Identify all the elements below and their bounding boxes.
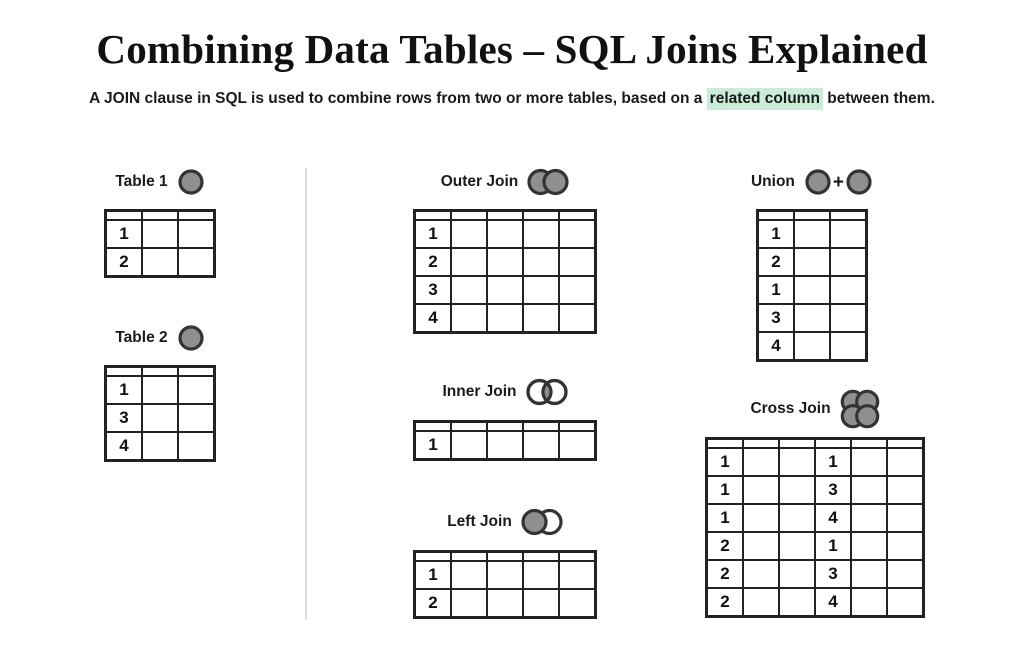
header-cell: [451, 552, 487, 562]
table-header-row: [415, 552, 596, 562]
data-cell: [779, 560, 815, 588]
header-cell: [523, 552, 559, 562]
table-row: 1: [415, 431, 596, 460]
table-inner: 1: [413, 420, 597, 461]
caption-union: Union+: [714, 168, 910, 196]
diagram-block-outer-join: Outer Join1234: [398, 168, 612, 334]
data-cell: [487, 276, 523, 304]
venn-intersection-filled-icon: [526, 378, 568, 406]
table-header-row: [106, 211, 215, 221]
header-cell: [178, 367, 215, 377]
data-cell: [779, 504, 815, 532]
data-cell: [559, 589, 596, 618]
header-cell: [887, 439, 924, 449]
header-cell: [178, 211, 215, 221]
caption-cross: Cross Join: [700, 395, 930, 423]
data-cell: [451, 304, 487, 333]
key-cell: 1: [707, 504, 744, 532]
table-header-row: [415, 422, 596, 432]
header-cell: [815, 439, 851, 449]
data-cell: [559, 220, 596, 248]
data-cell: [743, 532, 779, 560]
header-cell: [451, 211, 487, 221]
key-cell: 3: [758, 304, 795, 332]
table-table2: 134: [104, 365, 216, 462]
table-cross: 111314212324: [705, 437, 925, 618]
header-cell: [451, 422, 487, 432]
data-cell: [743, 476, 779, 504]
caption-left: Left Join: [398, 508, 612, 536]
table-row: 24: [707, 588, 924, 617]
header-cell: [415, 552, 452, 562]
header-cell: [487, 422, 523, 432]
header-cell: [523, 422, 559, 432]
table-wrapper-outer: 1234: [398, 209, 612, 334]
key-cell: 2: [707, 560, 744, 588]
header-cell: [779, 439, 815, 449]
data-cell: [178, 376, 215, 404]
key-cell: 1: [415, 561, 452, 589]
data-cell: [559, 276, 596, 304]
key-cell: 1: [106, 376, 143, 404]
caption-table2: Table 2: [56, 324, 264, 352]
data-cell: [851, 476, 887, 504]
data-cell: [779, 476, 815, 504]
table-row: 4: [415, 304, 596, 333]
data-cell: [142, 376, 178, 404]
data-cell: [887, 476, 924, 504]
header-cell: [830, 211, 867, 221]
table-row: 2: [106, 248, 215, 277]
caption-label-inner: Inner Join: [442, 384, 516, 400]
data-cell: [487, 431, 523, 460]
data-cell: [142, 404, 178, 432]
subtitle-text-before: A JOIN clause in SQL is used to combine …: [89, 90, 707, 107]
subtitle-highlight: related column: [707, 88, 823, 110]
data-cell: [830, 220, 867, 248]
table-row: 3: [758, 304, 867, 332]
data-cell: [887, 532, 924, 560]
table-wrapper-left: 12: [398, 550, 612, 619]
key-cell: 1: [415, 220, 452, 248]
single-circle-icon: [177, 324, 205, 352]
header-cell: [758, 211, 795, 221]
table-wrapper-inner: 1: [398, 420, 612, 461]
data-cell: [559, 304, 596, 333]
data-cell: [887, 560, 924, 588]
data-cell: [851, 448, 887, 476]
caption-table1: Table 1: [56, 168, 264, 196]
table-row: 4: [106, 432, 215, 461]
table-row: 3: [415, 276, 596, 304]
table-left: 12: [413, 550, 597, 619]
data-cell: [779, 532, 815, 560]
table-union: 12134: [756, 209, 868, 362]
data-cell: [523, 561, 559, 589]
data-cell: [794, 332, 830, 361]
plus-symbol: +: [833, 173, 844, 192]
data-cell: [523, 589, 559, 618]
venn-left-filled-icon: [521, 508, 563, 536]
page-title: Combining Data Tables – SQL Joins Explai…: [0, 26, 1024, 73]
data-cell: [830, 304, 867, 332]
data-cell: [487, 220, 523, 248]
data-cell: [559, 248, 596, 276]
caption-label-table1: Table 1: [115, 174, 167, 190]
table-row: 1: [106, 376, 215, 404]
data-cell: [743, 504, 779, 532]
table-header-row: [707, 439, 924, 449]
diagram-block-table1: Table 112: [56, 168, 264, 278]
single-circle-icon: [177, 168, 205, 196]
header-cell: [142, 367, 178, 377]
header-cell: [559, 422, 596, 432]
data-cell: [523, 220, 559, 248]
data-cell: [887, 504, 924, 532]
header-cell: [487, 552, 523, 562]
key-cell: 1: [815, 448, 851, 476]
data-cell: [451, 220, 487, 248]
header-cell: [559, 211, 596, 221]
data-cell: [451, 561, 487, 589]
key-cell: 3: [815, 476, 851, 504]
table-row: 13: [707, 476, 924, 504]
data-cell: [743, 448, 779, 476]
table-wrapper-table1: 12: [56, 209, 264, 278]
table-row: 2: [415, 589, 596, 618]
key-cell: 3: [106, 404, 143, 432]
header-cell: [415, 422, 452, 432]
key-cell: 2: [707, 532, 744, 560]
header-cell: [851, 439, 887, 449]
table-wrapper-cross: 111314212324: [700, 437, 930, 618]
data-cell: [559, 431, 596, 460]
header-cell: [523, 211, 559, 221]
quatrefoil-icon: [840, 389, 880, 429]
caption-outer: Outer Join: [398, 168, 612, 196]
table-header-row: [758, 211, 867, 221]
data-cell: [794, 276, 830, 304]
data-cell: [178, 248, 215, 277]
key-cell: 4: [815, 588, 851, 617]
table-row: 1: [415, 220, 596, 248]
diagram-block-inner-join: Inner Join1: [398, 378, 612, 461]
data-cell: [743, 560, 779, 588]
header-cell: [559, 552, 596, 562]
key-cell: 4: [106, 432, 143, 461]
key-cell: 2: [707, 588, 744, 617]
header-cell: [794, 211, 830, 221]
header: Combining Data Tables – SQL Joins Explai…: [0, 0, 1024, 109]
subtitle-text-after: between them.: [823, 90, 935, 107]
data-cell: [451, 431, 487, 460]
data-cell: [830, 332, 867, 361]
caption-label-union: Union: [751, 174, 795, 190]
table-row: 21: [707, 532, 924, 560]
vertical-divider: [305, 168, 307, 620]
data-cell: [794, 220, 830, 248]
table-row: 1: [758, 276, 867, 304]
diagram-block-table2: Table 2134: [56, 324, 264, 462]
data-cell: [851, 588, 887, 617]
table-row: 2: [758, 248, 867, 276]
key-cell: 2: [415, 248, 452, 276]
diagram-block-left-join: Left Join12: [398, 508, 612, 619]
table-outer: 1234: [413, 209, 597, 334]
data-cell: [178, 404, 215, 432]
data-cell: [178, 432, 215, 461]
key-cell: 1: [415, 431, 452, 460]
data-cell: [523, 276, 559, 304]
data-cell: [487, 561, 523, 589]
header-cell: [743, 439, 779, 449]
key-cell: 2: [415, 589, 452, 618]
key-cell: 1: [815, 532, 851, 560]
diagram-block-union: Union+12134: [714, 168, 910, 362]
data-cell: [487, 304, 523, 333]
data-cell: [142, 248, 178, 277]
data-cell: [487, 589, 523, 618]
table-header-row: [106, 367, 215, 377]
key-cell: 1: [707, 448, 744, 476]
table-row: 2: [415, 248, 596, 276]
data-cell: [523, 248, 559, 276]
table-header-row: [415, 211, 596, 221]
key-cell: 1: [758, 220, 795, 248]
data-cell: [559, 561, 596, 589]
data-cell: [794, 304, 830, 332]
key-cell: 2: [758, 248, 795, 276]
caption-label-table2: Table 2: [115, 330, 167, 346]
table-wrapper-table2: 134: [56, 365, 264, 462]
data-cell: [830, 248, 867, 276]
data-cell: [451, 276, 487, 304]
data-cell: [142, 220, 178, 248]
header-cell: [106, 367, 143, 377]
table-row: 1: [106, 220, 215, 248]
data-cell: [794, 248, 830, 276]
table-row: 1: [415, 561, 596, 589]
data-cell: [142, 432, 178, 461]
data-cell: [779, 448, 815, 476]
caption-label-left: Left Join: [447, 514, 512, 530]
key-cell: 1: [707, 476, 744, 504]
table-row: 4: [758, 332, 867, 361]
header-cell: [106, 211, 143, 221]
venn-both-filled-icon: [527, 168, 569, 196]
key-cell: 1: [758, 276, 795, 304]
key-cell: 4: [415, 304, 452, 333]
table-row: 1: [758, 220, 867, 248]
key-cell: 3: [415, 276, 452, 304]
key-cell: 3: [815, 560, 851, 588]
data-cell: [851, 532, 887, 560]
table-wrapper-union: 12134: [714, 209, 910, 362]
data-cell: [523, 431, 559, 460]
table-row: 11: [707, 448, 924, 476]
table-row: 23: [707, 560, 924, 588]
data-cell: [779, 588, 815, 617]
header-cell: [142, 211, 178, 221]
table-row: 3: [106, 404, 215, 432]
data-cell: [523, 304, 559, 333]
key-cell: 4: [815, 504, 851, 532]
data-cell: [887, 448, 924, 476]
header-cell: [487, 211, 523, 221]
data-cell: [451, 248, 487, 276]
caption-label-outer: Outer Join: [441, 174, 519, 190]
diagram-block-cross-join: Cross Join111314212324: [700, 395, 930, 618]
data-cell: [851, 560, 887, 588]
key-cell: 1: [106, 220, 143, 248]
data-cell: [743, 588, 779, 617]
data-cell: [830, 276, 867, 304]
header-cell: [707, 439, 744, 449]
table-row: 14: [707, 504, 924, 532]
data-cell: [487, 248, 523, 276]
caption-inner: Inner Join: [398, 378, 612, 406]
data-cell: [851, 504, 887, 532]
key-cell: 2: [106, 248, 143, 277]
header-cell: [415, 211, 452, 221]
key-cell: 4: [758, 332, 795, 361]
data-cell: [178, 220, 215, 248]
subtitle: A JOIN clause in SQL is used to combine …: [0, 89, 1024, 109]
caption-label-cross: Cross Join: [750, 401, 830, 417]
data-cell: [887, 588, 924, 617]
table-table1: 12: [104, 209, 216, 278]
two-circles-plus-icon: +: [804, 168, 873, 196]
data-cell: [451, 589, 487, 618]
